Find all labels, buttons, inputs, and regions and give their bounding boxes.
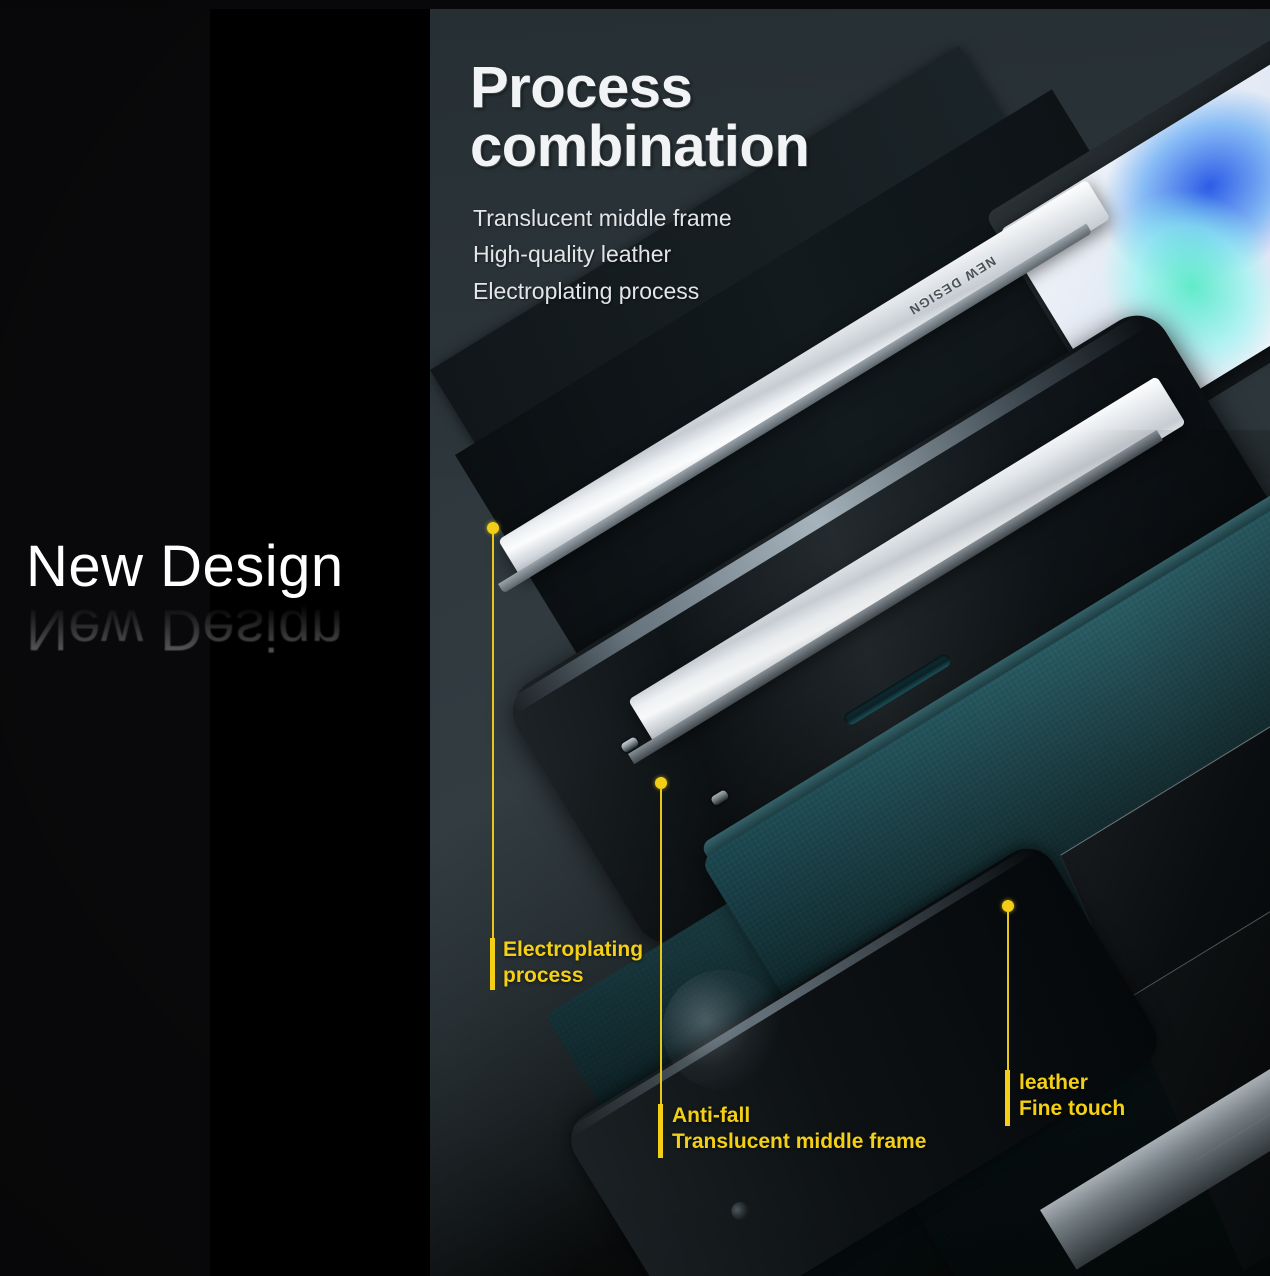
callout-anti-fall-line-2: Translucent middle frame — [672, 1129, 926, 1155]
wordmark-reflection: New Design — [26, 600, 344, 658]
callout-dot-leather — [1002, 900, 1014, 912]
callout-electroplating-line-2: process — [503, 963, 643, 989]
callout-leather-line-1: leather — [1019, 1070, 1125, 1096]
feature-list: Translucent middle frame High-quality le… — [473, 200, 732, 309]
callout-tick-electroplating — [490, 938, 495, 990]
wordmark-text: New Design — [26, 538, 344, 596]
callout-label-leather: leather Fine touch — [1019, 1070, 1125, 1121]
callout-leader-leather — [1007, 912, 1009, 1072]
callout-tick-leather — [1005, 1070, 1010, 1126]
callout-dot-electroplating — [487, 522, 499, 534]
headline-line-1: Process — [470, 58, 809, 117]
top-black-bar — [0, 0, 1270, 9]
callout-dot-anti-fall — [655, 777, 667, 789]
callout-label-anti-fall: Anti-fall Translucent middle frame — [672, 1103, 926, 1154]
page-title: Process combination — [470, 58, 809, 176]
callout-leader-anti-fall — [660, 789, 662, 1111]
product-banner-canvas: NEW DESIGN Process combination Transluce… — [0, 0, 1270, 1276]
callout-label-electroplating: Electroplating process — [503, 937, 643, 988]
callout-tick-anti-fall — [658, 1104, 663, 1158]
new-design-wordmark: New Design New Design — [26, 538, 344, 658]
callout-leather-line-2: Fine touch — [1019, 1096, 1125, 1122]
callout-electroplating-line-1: Electroplating — [503, 937, 643, 963]
feature-item-2: Electroplating process — [473, 273, 732, 309]
callout-anti-fall-line-1: Anti-fall — [672, 1103, 926, 1129]
feature-item-0: Translucent middle frame — [473, 200, 732, 236]
callout-leader-electroplating — [492, 534, 494, 946]
feature-item-1: High-quality leather — [473, 236, 732, 272]
headline-line-2: combination — [470, 117, 809, 176]
